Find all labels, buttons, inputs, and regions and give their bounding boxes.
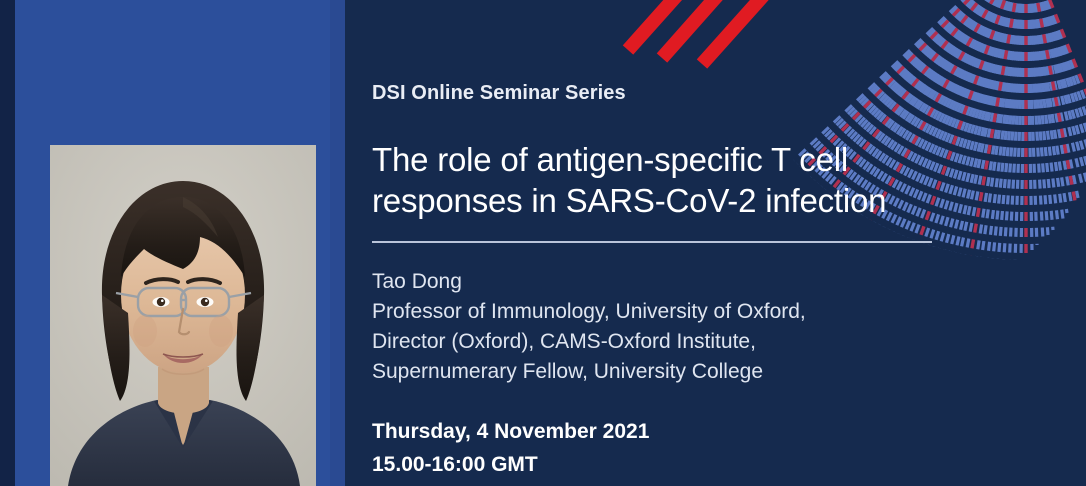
speaker-affiliation-line-1: Professor of Immunology, University of O… xyxy=(372,297,952,327)
title-line-1: The role of antigen-specific T cell xyxy=(372,139,952,180)
series-eyebrow: DSI Online Seminar Series xyxy=(372,82,626,105)
speaker-name: Tao Dong xyxy=(372,267,952,297)
event-date: Thursday, 4 November 2021 xyxy=(372,415,952,448)
event-datetime: Thursday, 4 November 2021 15.00-16:00 GM… xyxy=(372,415,952,481)
title-divider xyxy=(372,241,932,243)
title-line-2: responses in SARS-CoV-2 infection xyxy=(372,180,952,221)
panel-inner-shade xyxy=(330,0,345,486)
speaker-affiliation-line-3: Supernumerary Fellow, University College xyxy=(372,357,952,387)
speaker-portrait xyxy=(50,145,316,486)
event-time: 15.00-16:00 GMT xyxy=(372,448,952,481)
speaker-affiliation-line-2: Director (Oxford), CAMS-Oxford Institute… xyxy=(372,327,952,357)
content-column: DSI Online Seminar Series The role of an… xyxy=(372,0,972,486)
speaker-block: Tao Dong Professor of Immunology, Univer… xyxy=(372,267,952,387)
seminar-title: The role of antigen-specific T cell resp… xyxy=(372,139,952,221)
seminar-poster: DSI Online Seminar Series The role of an… xyxy=(0,0,1086,486)
panel-left-navy-edge xyxy=(0,0,15,486)
